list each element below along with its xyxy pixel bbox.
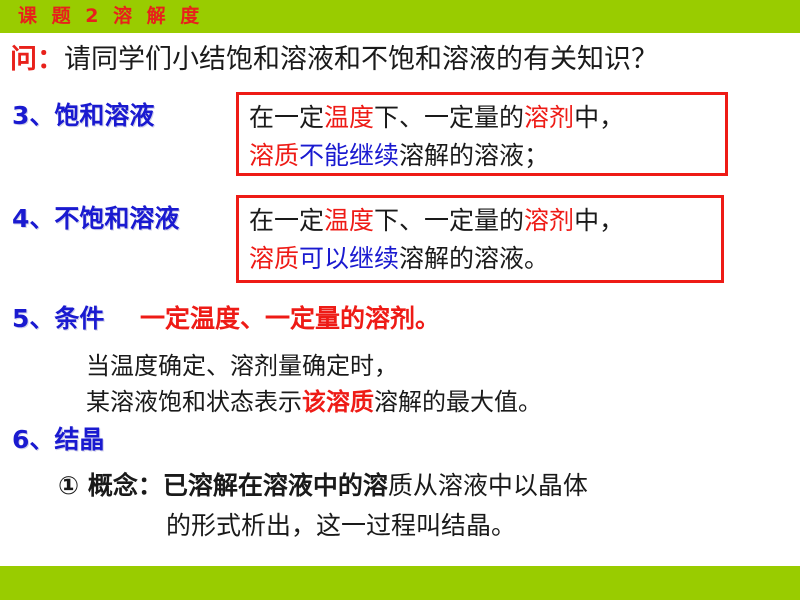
definition-box-saturated-line-2: 溶质不能继续溶解的溶液；	[249, 137, 717, 175]
definition-box-unsaturated-line-2: 溶质可以继续溶解的溶液。	[249, 240, 713, 278]
item-4-label: 4、不饱和溶液	[12, 203, 179, 235]
text-segment-solute: 溶质	[249, 141, 299, 170]
footer-bar	[0, 566, 800, 600]
item-5-label: 5、条件	[12, 303, 104, 335]
slide-title: 课 题 2 溶 解 度	[18, 3, 203, 29]
text-segment: 某溶液饱和状态表示	[86, 388, 302, 416]
text-segment: 下、一定量的	[374, 206, 524, 235]
concept-bold-part: 已溶解在溶液中的溶	[163, 471, 388, 500]
header-bar: 课 题 2 溶 解 度	[0, 0, 800, 33]
text-segment: 溶解的溶液。	[399, 244, 549, 273]
definition-box-saturated: 在一定温度下、一定量的溶剂中， 溶质不能继续溶解的溶液；	[236, 92, 728, 176]
text-segment: 中，	[574, 103, 624, 132]
text-segment: 下、一定量的	[374, 103, 524, 132]
explanation-paragraph: 当温度确定、溶剂量确定时， 某溶液饱和状态表示该溶质溶解的最大值。	[86, 348, 542, 420]
text-segment: 溶解的最大值。	[374, 388, 542, 416]
text-segment-temperature: 温度	[324, 206, 374, 235]
concept-rest-part: 质从溶液中以晶体	[388, 471, 588, 500]
item-5-condition-text: 一定温度、一定量的溶剂。	[140, 303, 440, 335]
item-6-label: 6、结晶	[12, 424, 104, 456]
definition-box-unsaturated: 在一定温度下、一定量的溶剂中， 溶质可以继续溶解的溶液。	[236, 195, 724, 283]
explanation-line-1: 当温度确定、溶剂量确定时，	[86, 348, 542, 384]
concept-line-2: 的形式析出，这一过程叫结晶。	[58, 506, 588, 546]
question-prefix: 问：	[10, 44, 64, 75]
slide-canvas: 课 题 2 溶 解 度 问：请同学们小结饱和溶液和不饱和溶液的有关知识？ 3、饱…	[0, 0, 800, 600]
text-segment-temperature: 温度	[324, 103, 374, 132]
text-segment-solvent: 溶剂	[524, 103, 574, 132]
text-segment: 中，	[574, 206, 624, 235]
text-segment-cannot-continue: 不能继续	[299, 141, 399, 170]
definition-box-saturated-line-1: 在一定温度下、一定量的溶剂中，	[249, 99, 717, 137]
question-line: 问：请同学们小结饱和溶液和不饱和溶液的有关知识？	[10, 42, 658, 78]
concept-line-1: ① 概念：已溶解在溶液中的溶质从溶液中以晶体	[58, 466, 588, 506]
text-segment-that-solute: 该溶质	[302, 388, 374, 416]
concept-paragraph: ① 概念：已溶解在溶液中的溶质从溶液中以晶体 的形式析出，这一过程叫结晶。	[58, 466, 588, 546]
text-segment: 在一定	[249, 103, 324, 132]
item-3-label: 3、饱和溶液	[12, 100, 154, 132]
text-segment-can-continue: 可以继续	[299, 244, 399, 273]
question-text: 请同学们小结饱和溶液和不饱和溶液的有关知识？	[64, 44, 658, 75]
concept-marker: ① 概念：	[58, 471, 163, 500]
text-segment-solute: 溶质	[249, 244, 299, 273]
text-segment: 溶解的溶液；	[399, 141, 549, 170]
text-segment: 在一定	[249, 206, 324, 235]
definition-box-unsaturated-line-1: 在一定温度下、一定量的溶剂中，	[249, 202, 713, 240]
text-segment-solvent: 溶剂	[524, 206, 574, 235]
explanation-line-2: 某溶液饱和状态表示该溶质溶解的最大值。	[86, 384, 542, 420]
